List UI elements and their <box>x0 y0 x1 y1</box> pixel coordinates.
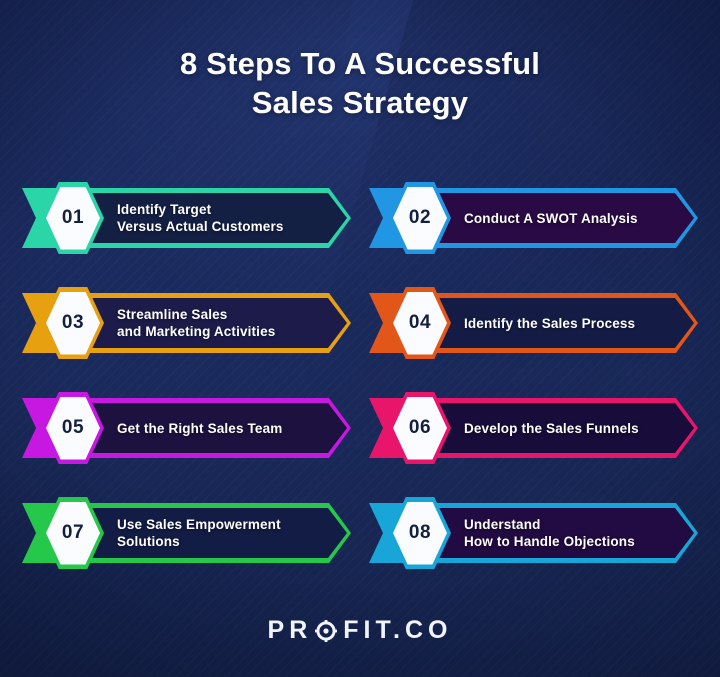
step-text-panel: Conduct A SWOT Analysis <box>431 193 694 243</box>
step-number: 08 <box>409 522 431 544</box>
step-number: 04 <box>409 312 431 334</box>
step-label: Streamline Sales and Marketing Activitie… <box>84 306 309 340</box>
step-number: 01 <box>62 207 84 229</box>
step-label: Identify Target Versus Actual Customers <box>84 201 318 235</box>
step-text-panel: Get the Right Sales Team <box>84 403 347 453</box>
step-text-panel: Understand How to Handle Objections <box>431 508 694 558</box>
step-label: Get the Right Sales Team <box>84 420 316 437</box>
step-text-panel: Identify the Sales Process <box>431 298 694 348</box>
brand-logo: PR FIT.CO <box>0 618 720 643</box>
step-card[interactable]: Identify the Sales Process04 <box>369 287 698 359</box>
step-card[interactable]: Develop the Sales Funnels06 <box>369 392 698 464</box>
step-card[interactable]: Streamline Sales and Marketing Activitie… <box>22 287 351 359</box>
step-label: Identify the Sales Process <box>431 315 669 332</box>
title-line-2: Sales Strategy <box>0 83 720 122</box>
bullseye-icon <box>315 620 337 642</box>
title-line-1: 8 Steps To A Successful <box>0 44 720 83</box>
step-text-panel: Identify Target Versus Actual Customers <box>84 193 347 243</box>
step-text-panel: Use Sales Empowerment Solutions <box>84 508 347 558</box>
step-number: 07 <box>62 522 84 544</box>
step-number: 05 <box>62 417 84 439</box>
step-card[interactable]: Understand How to Handle Objections08 <box>369 497 698 569</box>
step-label: Use Sales Empowerment Solutions <box>84 516 315 550</box>
logo-text-part-1: PR <box>268 618 313 643</box>
step-text-panel: Streamline Sales and Marketing Activitie… <box>84 298 347 348</box>
infographic-canvas: 8 Steps To A Successful Sales Strategy I… <box>0 0 720 677</box>
step-card[interactable]: Identify Target Versus Actual Customers0… <box>22 182 351 254</box>
step-text-panel: Develop the Sales Funnels <box>431 403 694 453</box>
logo-text-part-2: FIT.CO <box>343 618 452 643</box>
step-label: Conduct A SWOT Analysis <box>431 210 672 227</box>
step-number: 02 <box>409 207 431 229</box>
steps-list: Identify Target Versus Actual Customers0… <box>22 182 698 569</box>
page-title: 8 Steps To A Successful Sales Strategy <box>0 44 720 122</box>
step-label: Develop the Sales Funnels <box>431 420 673 437</box>
step-card[interactable]: Use Sales Empowerment Solutions07 <box>22 497 351 569</box>
step-number: 06 <box>409 417 431 439</box>
step-card[interactable]: Get the Right Sales Team05 <box>22 392 351 464</box>
step-number: 03 <box>62 312 84 334</box>
step-label: Understand How to Handle Objections <box>431 516 669 550</box>
step-card[interactable]: Conduct A SWOT Analysis02 <box>369 182 698 254</box>
